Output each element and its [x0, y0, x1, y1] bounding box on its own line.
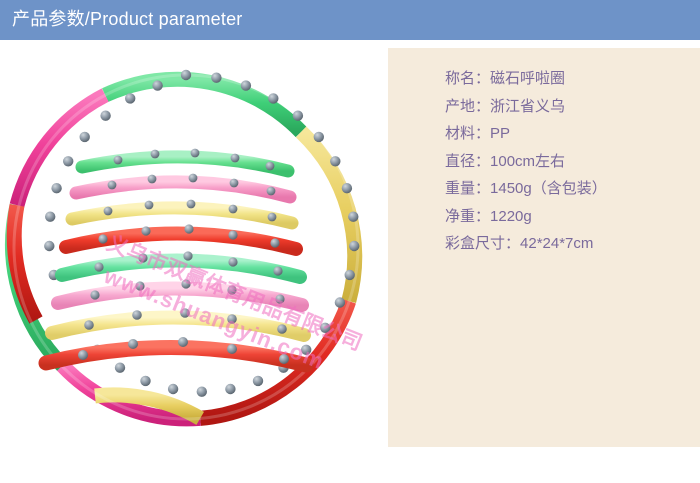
- spec-row-diameter: 直径： 100cm左右: [445, 148, 607, 176]
- spec-label-net-weight: 净重：: [445, 203, 490, 231]
- spec-label-weight: 重量：: [445, 175, 490, 203]
- spec-label-box-size: 彩盒尺寸：: [445, 230, 520, 258]
- spec-row-weight: 重量： 1450g（含包装）: [445, 175, 607, 203]
- spec-value-net-weight: 1220g: [490, 203, 532, 231]
- product-spec-panel: 称名： 磁石呼啦圈 产地： 浙江省义乌 材料： PP 直径： 100cm左右 重…: [388, 48, 700, 447]
- spec-value-weight: 1450g（含包装）: [490, 175, 607, 203]
- spec-row-origin: 产地： 浙江省义乌: [445, 93, 607, 121]
- spec-value-material: PP: [490, 120, 510, 148]
- spec-value-diameter: 100cm左右: [490, 148, 565, 176]
- spec-label-name: 称名：: [445, 65, 490, 93]
- section-header-bar: 产品参数/Product parameter: [0, 0, 700, 40]
- spec-label-material: 材料：: [445, 120, 490, 148]
- spec-row-box-size: 彩盒尺寸： 42*24*7cm: [445, 230, 607, 258]
- hula-hoop-illustration: 义乌市双赢体育用品有限公司 www.shuangyin.com: [0, 45, 380, 445]
- spec-value-box-size: 42*24*7cm: [520, 230, 593, 258]
- spec-label-diameter: 直径：: [445, 148, 490, 176]
- spec-row-name: 称名： 磁石呼啦圈: [445, 65, 607, 93]
- spec-row-material: 材料： PP: [445, 120, 607, 148]
- hula-hoop-svg: [0, 45, 380, 445]
- page-title: 产品参数/Product parameter: [12, 7, 242, 31]
- spec-list: 称名： 磁石呼啦圈 产地： 浙江省义乌 材料： PP 直径： 100cm左右 重…: [445, 65, 607, 258]
- spec-row-net-weight: 净重： 1220g: [445, 203, 607, 231]
- product-photo: 义乌市双赢体育用品有限公司 www.shuangyin.com: [0, 45, 380, 445]
- product-parameter-page: 产品参数/Product parameter: [0, 0, 700, 483]
- spec-value-origin: 浙江省义乌: [490, 93, 565, 121]
- spec-value-name: 磁石呼啦圈: [490, 65, 565, 93]
- spec-label-origin: 产地：: [445, 93, 490, 121]
- hoop-loose-segments: [46, 157, 306, 365]
